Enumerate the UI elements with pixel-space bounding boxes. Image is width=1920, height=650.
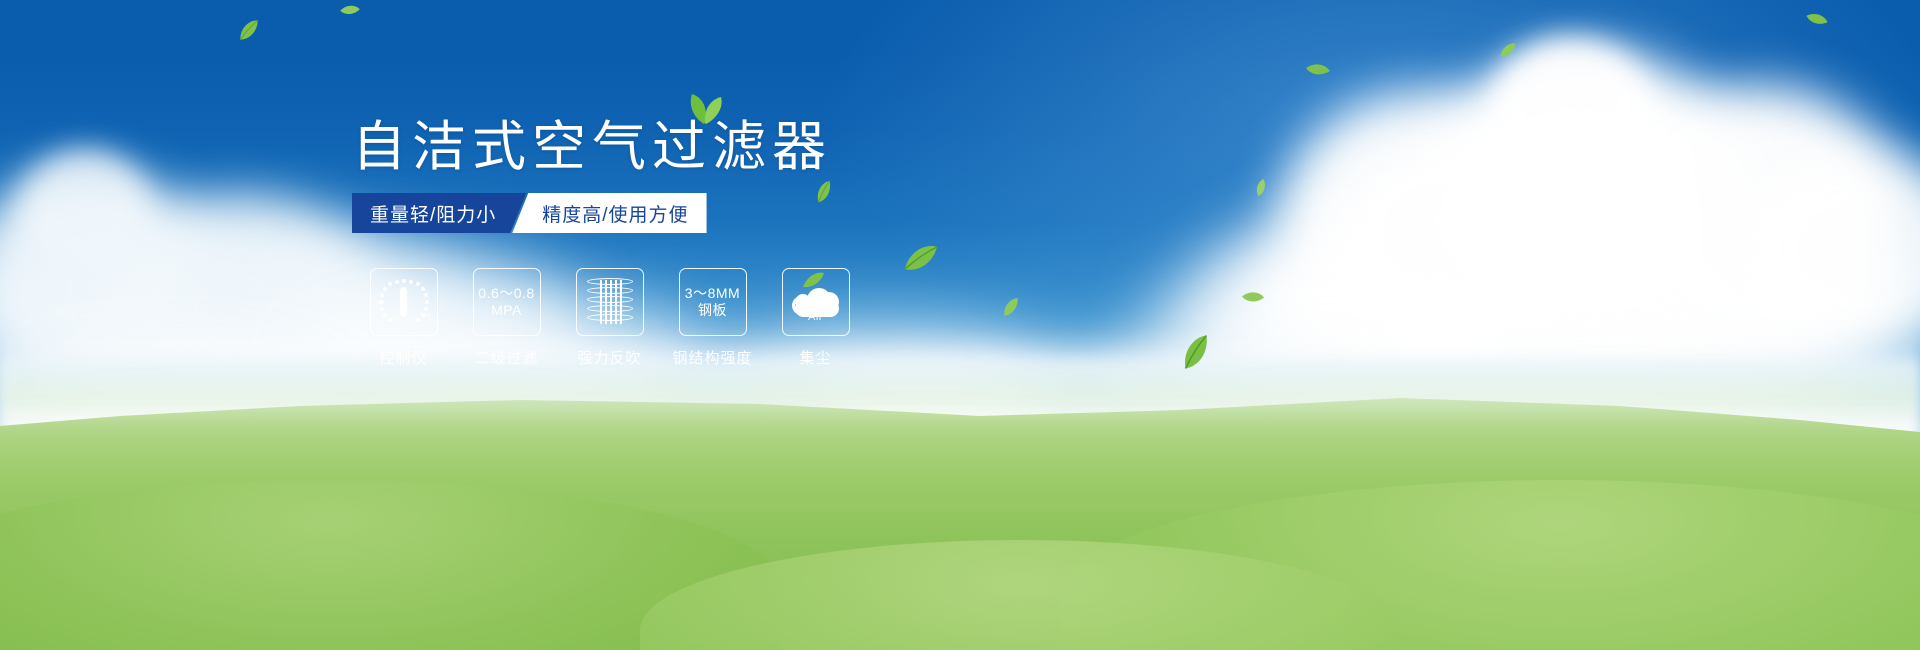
feature-icon-box: Air <box>782 268 850 336</box>
feature-label: 钢结构强度 <box>672 347 752 368</box>
feature-label: 控制仪 <box>379 347 427 368</box>
tagline-badge-primary[interactable]: 重量轻/阻力小 <box>352 193 526 233</box>
pressure-text-icon: 0.6～0.8 MPA <box>478 285 534 320</box>
page-title: 自洁式空气过滤器 <box>352 118 832 177</box>
feature-item[interactable]: 0.6～0.8 MPA 二级过滤 <box>455 268 558 368</box>
feature-icon-box: NO OFF <box>370 268 438 336</box>
feature-label: 集尘 <box>799 347 831 368</box>
product-hero-banner: 自洁式空气过滤器 重量轻/阻力小 精度高/使用方便 <box>0 0 1920 650</box>
gauge-needle <box>400 287 407 317</box>
feature-label: 强力反吹 <box>577 347 641 368</box>
title-leaf-icon <box>682 92 728 131</box>
tagline-badge-secondary[interactable]: 精度高/使用方便 <box>512 193 706 233</box>
tagline-group: 重量轻/阻力小 精度高/使用方便 <box>352 193 707 233</box>
steel-thickness: 3～8MM <box>685 285 740 303</box>
gauge-label-off: OFF <box>421 313 432 319</box>
feature-item[interactable]: 强力反吹 <box>558 268 661 368</box>
feature-item[interactable]: NO OFF 控制仪 <box>352 268 455 368</box>
banner-content: 自洁式空气过滤器 重量轻/阻力小 精度高/使用方便 <box>0 0 1920 650</box>
filter-coil-icon <box>587 278 633 326</box>
pressure-unit: MPA <box>478 302 534 320</box>
title-block: 自洁式空气过滤器 <box>352 118 832 177</box>
feature-item[interactable]: 3～8MM 钢板 钢结构强度 <box>661 268 764 368</box>
feature-label: 二级过滤 <box>474 347 538 368</box>
feature-icon-box: 0.6～0.8 MPA <box>473 268 541 336</box>
feature-list: NO OFF 控制仪 0.6～0.8 MPA 二级过滤 <box>352 268 867 368</box>
feature-item[interactable]: Air 集尘 <box>764 268 867 368</box>
air-cloud-icon: Air <box>789 280 843 324</box>
feature-icon-box: 3～8MM 钢板 <box>679 268 747 336</box>
feature-icon-box <box>576 268 644 336</box>
steel-material: 钢板 <box>685 302 740 320</box>
gauge-label-no: NO <box>377 301 385 307</box>
pressure-value: 0.6～0.8 <box>478 285 534 303</box>
gauge-dial-icon: NO OFF <box>378 279 430 325</box>
air-label: Air <box>789 311 843 323</box>
steel-plate-text-icon: 3～8MM 钢板 <box>685 285 740 320</box>
